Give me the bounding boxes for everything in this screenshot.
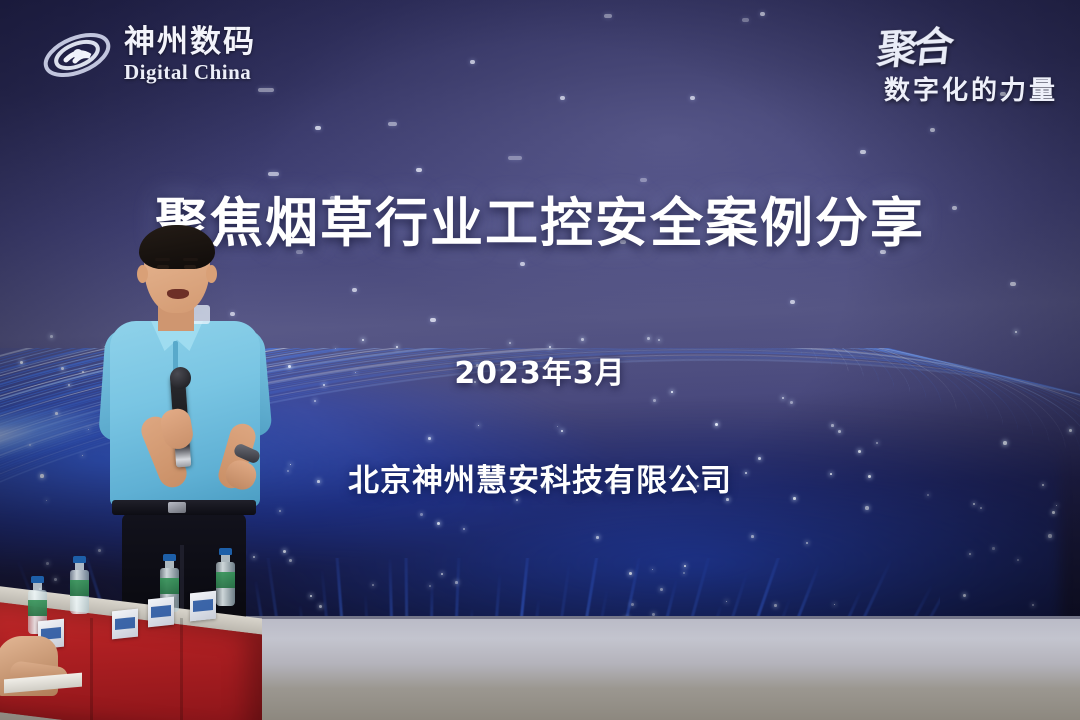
light-particle-dash — [352, 288, 357, 292]
brand-name-cn: 神州数码 — [124, 27, 256, 58]
light-particle — [774, 604, 777, 607]
light-particle — [992, 547, 995, 550]
light-particle — [831, 424, 834, 427]
light-particle — [1003, 441, 1007, 445]
conference-photo: 神州数码 Digital China 聚合 数字化的力量 聚焦烟草行业工控安全案… — [0, 0, 1080, 720]
light-particle-dash — [430, 318, 436, 322]
light-particle-dash — [268, 172, 279, 176]
light-particle — [429, 585, 431, 587]
light-particle — [1017, 559, 1019, 561]
light-particle — [838, 430, 841, 433]
light-particle — [1048, 534, 1052, 538]
light-particle-dash — [742, 18, 749, 22]
light-particle — [372, 584, 374, 586]
light-particle — [362, 339, 364, 341]
light-particle — [865, 506, 869, 510]
speaker-eye-right — [184, 265, 196, 269]
speaker-ear-right — [206, 265, 217, 283]
name-card — [190, 591, 216, 622]
event-theme-logo: 聚合 数字化的力量 — [798, 16, 1058, 116]
light-particle-dash — [860, 150, 866, 154]
light-particle — [455, 581, 458, 584]
light-particle — [441, 573, 443, 575]
light-particle-dash — [388, 122, 397, 126]
light-particle — [684, 565, 686, 567]
light-particle — [751, 535, 754, 538]
galaxy-swirl-icon — [40, 24, 114, 86]
name-card — [112, 609, 138, 640]
light-particle — [428, 437, 431, 440]
digital-china-logo: 神州数码 Digital China — [40, 18, 290, 92]
light-particle-dash — [470, 60, 475, 64]
light-particle — [660, 588, 663, 591]
light-particle — [1015, 331, 1017, 333]
skirt-fold — [180, 618, 183, 720]
speaker-hair — [139, 225, 215, 269]
theme-subtitle: 数字化的力量 — [884, 70, 1058, 107]
light-particle — [463, 528, 465, 530]
light-particle — [310, 595, 312, 597]
light-particle — [658, 339, 660, 341]
light-particle-dash — [690, 96, 695, 100]
light-particle — [50, 335, 53, 338]
light-particle — [55, 412, 58, 415]
light-particle — [1069, 429, 1072, 432]
light-particle-dash — [520, 262, 525, 266]
speaker-mouth — [167, 289, 189, 299]
light-particle — [980, 507, 982, 509]
light-particle-dash — [416, 168, 422, 172]
light-particle-dash — [560, 96, 565, 100]
light-particle — [581, 338, 584, 341]
light-particle-dash — [315, 126, 321, 130]
light-particle-dash — [604, 14, 612, 18]
light-particle — [509, 342, 511, 344]
microphone-head-icon — [170, 367, 191, 389]
water-bottle — [216, 548, 235, 606]
speaker-brow-right — [183, 258, 198, 261]
name-card — [148, 597, 174, 628]
light-particle-dash — [760, 12, 765, 16]
light-particle — [647, 337, 650, 340]
water-bottle — [70, 556, 89, 614]
light-particle — [876, 442, 878, 444]
light-particle — [596, 536, 599, 539]
speaker-eye-left — [157, 265, 169, 269]
light-particle-dash — [1010, 282, 1016, 286]
theme-calligraphy: 聚合 — [875, 14, 954, 76]
light-particle — [437, 522, 440, 525]
light-particle — [683, 572, 685, 574]
light-particle — [1052, 511, 1055, 514]
brand-name-en: Digital China — [124, 62, 256, 83]
light-particle — [561, 430, 563, 432]
speaker-ear-left — [137, 265, 148, 283]
speaker-brow-left — [155, 258, 170, 261]
light-particle-dash — [508, 156, 522, 160]
skirt-fold — [90, 618, 93, 720]
speaker-belt-buckle — [168, 502, 186, 513]
light-particle-dash — [930, 128, 935, 132]
light-particle-dash — [790, 300, 795, 304]
